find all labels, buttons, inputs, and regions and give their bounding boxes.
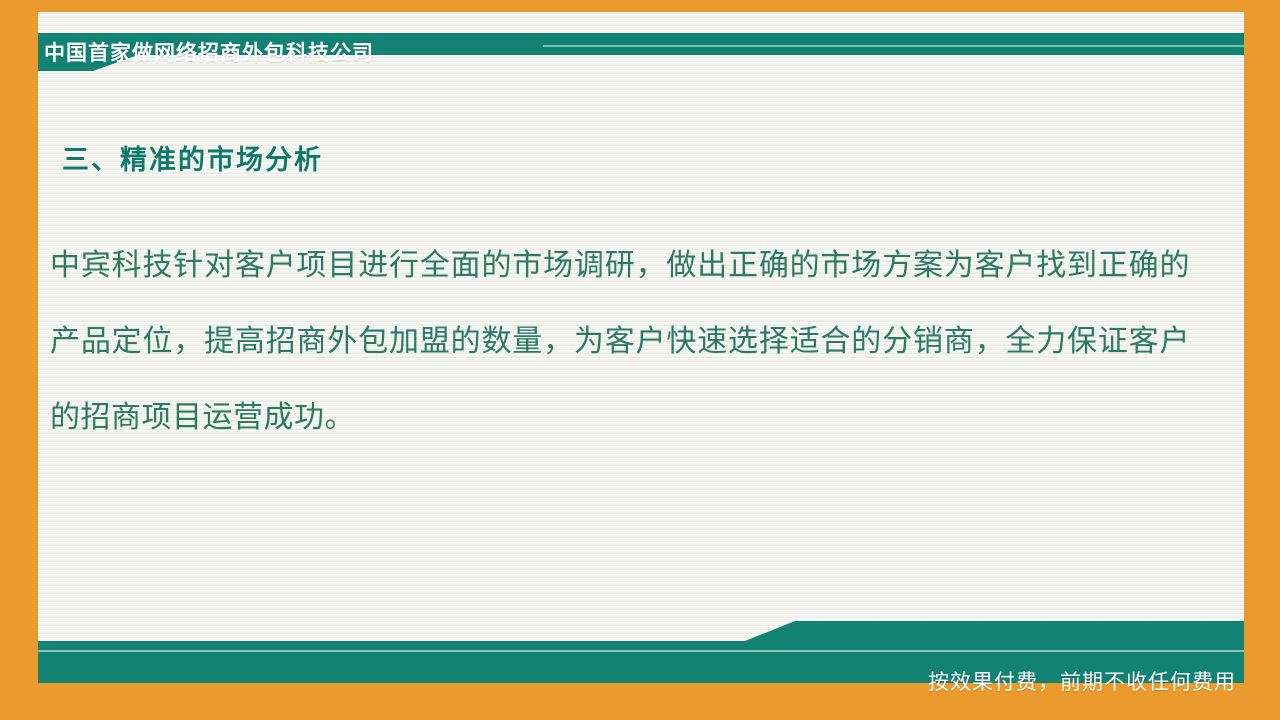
footer-highlight-line (38, 650, 1244, 652)
header-title: 中国首家做网络招商外包科技公司 (44, 36, 374, 68)
header-highlight-line (543, 45, 1244, 47)
page-title: 三、精准的市场分析 (62, 138, 323, 177)
slide-root: { "theme": { "orange": "#eb9a2e", "green… (0, 0, 1280, 720)
body-paragraph: 中宾科技针对客户项目进行全面的市场调研，做出正确的市场方案为客户找到正确的产品定… (50, 228, 1190, 456)
footer-tagline: 按效果付费，前期不收任何费用 (928, 666, 1236, 696)
